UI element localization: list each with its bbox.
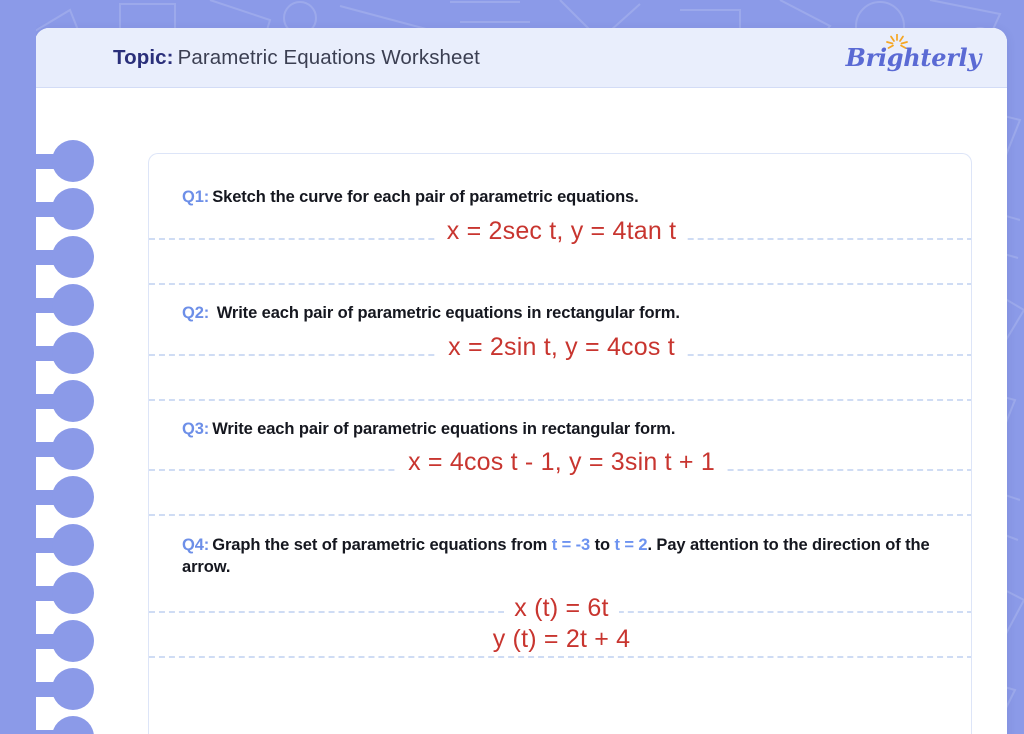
question-block-3: Q3:Write each pair of parametric equatio… — [182, 419, 941, 479]
equation-row-1: x = 2sec t, y = 4tan t — [182, 209, 941, 247]
writing-rule — [149, 514, 972, 516]
question-text-2: Write each pair of parametric equations … — [212, 304, 680, 322]
equation-1: x = 2sec t, y = 4tan t — [437, 216, 687, 247]
writing-rule — [149, 656, 972, 658]
equation-row-2: x = 2sin t, y = 4cos t — [182, 325, 941, 363]
question-text-3: Write each pair of parametric equations … — [212, 420, 675, 438]
svg-text:4: 4 — [4, 443, 36, 508]
sunburst-icon — [886, 34, 908, 50]
worksheet-header: Topic:Parametric Equations Worksheet Bri… — [35, 28, 1007, 88]
brighterly-logo: Brighterly — [846, 43, 985, 72]
equation-2: x = 2sin t, y = 4cos t — [438, 332, 685, 363]
question-text-1: Sketch the curve for each pair of parame… — [212, 188, 638, 206]
equation-3: x = 4cos t - 1, y = 3sin t + 1 — [398, 447, 725, 478]
brand-name: Brighterly — [846, 43, 981, 72]
topic-title: Parametric Equations Worksheet — [178, 46, 480, 69]
writing-rule — [149, 399, 972, 401]
equation-row-3: x = 4cos t - 1, y = 3sin t + 1 — [182, 440, 941, 478]
equation-4b: y (t) = 2t + 4 — [483, 624, 641, 655]
question-prompt-2: Q2: Write each pair of parametric equati… — [182, 303, 941, 325]
topic-label: Topic: — [113, 46, 174, 69]
question-text-4a: Graph the set of parametric equations fr… — [212, 536, 552, 554]
questions-container: Q1:Sketch the curve for each pair of par… — [148, 153, 972, 734]
writing-rule — [149, 283, 972, 285]
worksheet-page: 4 Topic:Para — [0, 0, 1024, 734]
question-number-4: Q4: — [182, 536, 209, 554]
binding-spine — [0, 0, 36, 734]
topic-line: Topic:Parametric Equations Worksheet — [113, 46, 480, 70]
question-text-4b: to — [590, 536, 614, 554]
question-number-2: Q2: — [182, 304, 209, 322]
question-block-2: Q2: Write each pair of parametric equati… — [182, 303, 941, 363]
question-number-3: Q3: — [182, 420, 209, 438]
question-prompt-1: Q1:Sketch the curve for each pair of par… — [182, 187, 941, 209]
question-block-1: Q1:Sketch the curve for each pair of par… — [182, 187, 941, 247]
t-end-value: t = 2 — [614, 536, 647, 554]
question-block-4: Q4:Graph the set of parametric equations… — [182, 535, 941, 655]
t-start-value: t = -3 — [552, 536, 590, 554]
equation-4a: x (t) = 6t — [504, 593, 618, 624]
worksheet-card: Topic:Parametric Equations Worksheet Bri… — [35, 28, 1007, 734]
equation-row-4: x (t) = 6t y (t) = 2t + 4 — [182, 579, 941, 655]
question-prompt-4: Q4:Graph the set of parametric equations… — [182, 535, 941, 579]
question-prompt-3: Q3:Write each pair of parametric equatio… — [182, 419, 941, 441]
question-number-1: Q1: — [182, 188, 209, 206]
